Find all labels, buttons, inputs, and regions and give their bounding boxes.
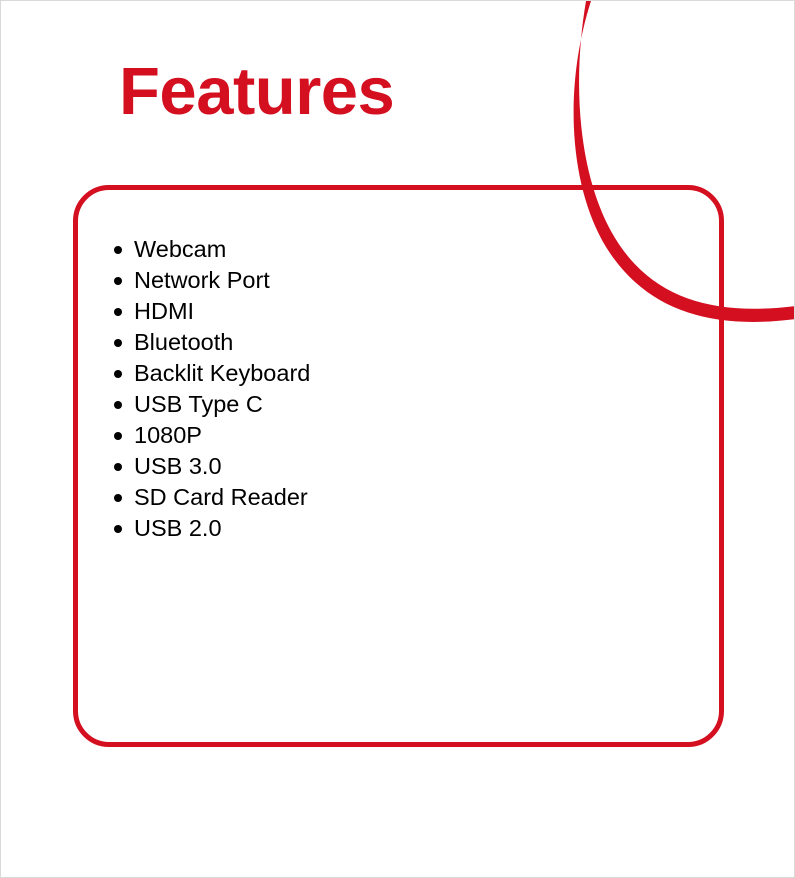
list-item: Network Port [114, 265, 654, 296]
bullet-icon [114, 494, 122, 502]
bullet-icon [114, 463, 122, 471]
list-item: Bluetooth [114, 327, 654, 358]
list-item: USB Type C [114, 389, 654, 420]
list-item-label: Backlit Keyboard [134, 360, 310, 386]
list-item-label: Webcam [134, 236, 226, 262]
bullet-icon [114, 308, 122, 316]
feature-list: Webcam Network Port HDMI Bluetooth Backl… [114, 234, 654, 544]
list-item: USB 2.0 [114, 513, 654, 544]
list-item-label: USB 3.0 [134, 453, 222, 479]
slide-canvas: Features Webcam Network Port HDMI Blueto… [0, 0, 795, 878]
list-item: USB 3.0 [114, 451, 654, 482]
list-item-label: USB 2.0 [134, 515, 222, 541]
bullet-icon [114, 370, 122, 378]
bullet-icon [114, 339, 122, 347]
list-item: Webcam [114, 234, 654, 265]
list-item: 1080P [114, 420, 654, 451]
page-title: Features [119, 58, 394, 125]
bullet-icon [114, 277, 122, 285]
list-item-label: USB Type C [134, 391, 263, 417]
list-item-label: HDMI [134, 298, 194, 324]
bullet-icon [114, 432, 122, 440]
bullet-icon [114, 246, 122, 254]
list-item-label: Network Port [134, 267, 270, 293]
list-item-label: 1080P [134, 422, 202, 448]
bullet-icon [114, 525, 122, 533]
bullet-icon [114, 401, 122, 409]
list-item-label: SD Card Reader [134, 484, 308, 510]
list-item: SD Card Reader [114, 482, 654, 513]
list-item-label: Bluetooth [134, 329, 233, 355]
list-item: HDMI [114, 296, 654, 327]
list-item: Backlit Keyboard [114, 358, 654, 389]
